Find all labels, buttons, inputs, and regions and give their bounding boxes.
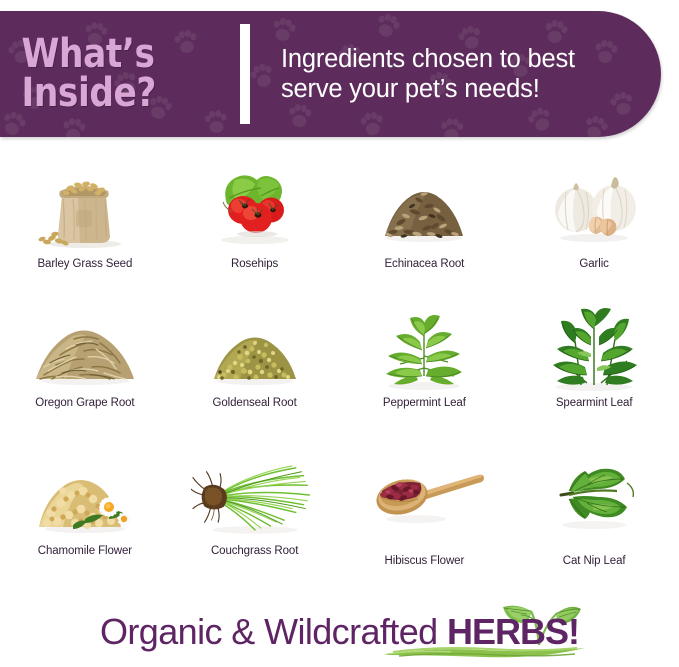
- catnip-leaves-image: [530, 451, 658, 539]
- banner-title: What’s Inside?: [0, 35, 198, 113]
- ingredient-label: Cat Nip Leaf: [563, 555, 626, 567]
- dark-green-mint-bunch-image: [530, 307, 658, 395]
- green-mint-sprig-image: [360, 307, 488, 395]
- ingredient-cell: Spearmint Leaf: [509, 303, 679, 446]
- couchgrass-roots-image: [191, 451, 319, 539]
- wooden-spoon-hibiscus-image: [360, 451, 488, 539]
- ingredient-cell: Cat Nip Leaf: [509, 447, 679, 590]
- shredded-root-pile-image: [21, 307, 149, 395]
- banner-subtitle-line1: Ingredients chosen to best: [281, 44, 637, 74]
- header-banner: What’s Inside? Ingredients chosen to bes…: [0, 11, 661, 137]
- ingredient-cell: Goldenseal Root: [170, 303, 340, 446]
- ingredient-label: Garlic: [579, 258, 608, 270]
- ingredient-label: Hibiscus Flower: [385, 555, 465, 567]
- banner-title-line1: What’s: [22, 35, 198, 74]
- banner-divider: [240, 24, 250, 124]
- ingredient-label: Rosehips: [231, 258, 278, 270]
- yellow-granule-pile-image: [191, 307, 319, 395]
- ingredient-label: Oregon Grape Root: [35, 397, 134, 409]
- footer-banner: Organic & Wildcrafted HERBS!: [0, 596, 679, 667]
- ingredient-cell: Garlic: [509, 160, 679, 303]
- garlic-bulbs-image: [530, 164, 658, 252]
- burlap-sack-of-seed-image: [21, 164, 149, 252]
- dried-root-pile-image: [360, 164, 488, 252]
- ingredient-label: Chamomile Flower: [38, 545, 132, 557]
- ingredient-label: Goldenseal Root: [213, 397, 297, 409]
- ingredient-cell: Rosehips: [170, 160, 340, 303]
- ingredient-label: Peppermint Leaf: [383, 397, 466, 409]
- red-rosehip-berries-image: [191, 164, 319, 252]
- ingredient-grid: Barley Grass Seed: [0, 160, 679, 590]
- green-brush-underline: [379, 643, 589, 661]
- ingredient-cell: Echinacea Root: [340, 160, 510, 303]
- banner-subtitle-line2: serve your pet’s needs!: [281, 74, 637, 104]
- ingredient-cell: Couchgrass Root: [170, 447, 340, 590]
- ingredient-cell: Oregon Grape Root: [0, 303, 170, 446]
- ingredient-cell: Chamomile Flower: [0, 447, 170, 590]
- ingredient-label: Couchgrass Root: [211, 545, 298, 557]
- ingredient-cell: Barley Grass Seed: [0, 160, 170, 303]
- ingredient-label: Echinacea Root: [384, 258, 464, 270]
- ingredient-label: Barley Grass Seed: [37, 258, 132, 270]
- ingredient-cell: Hibiscus Flower: [340, 447, 510, 590]
- ingredient-cell: Peppermint Leaf: [340, 303, 510, 446]
- banner-subtitle: Ingredients chosen to best serve your pe…: [250, 44, 661, 104]
- ingredient-label: Spearmint Leaf: [556, 397, 633, 409]
- banner-title-line2: Inside?: [22, 74, 198, 113]
- chamomile-flowers-image: [21, 451, 149, 539]
